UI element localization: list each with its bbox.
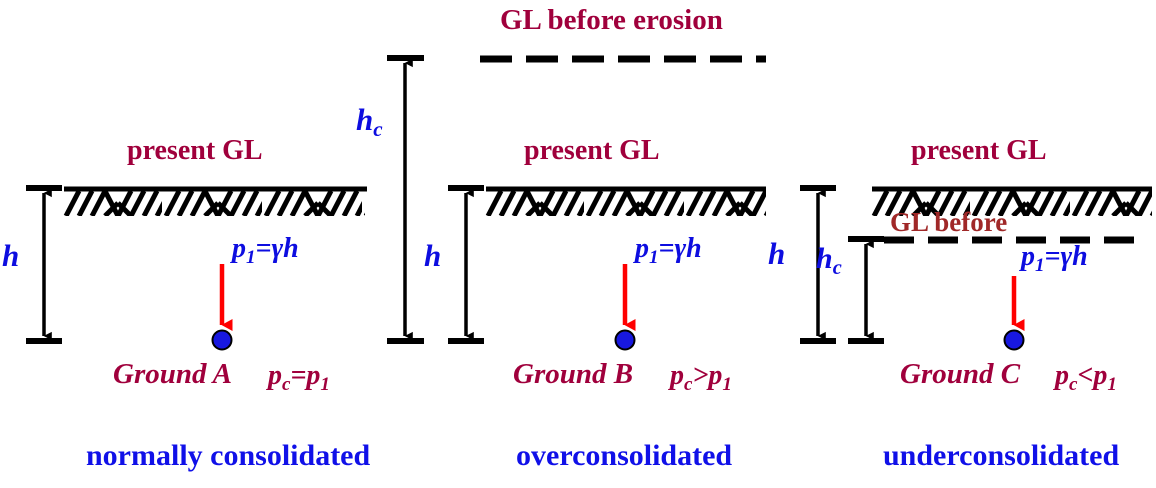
panel-c-stress-gamma-h: γh	[1060, 241, 1087, 272]
panel-c-relation: pc<p1	[1055, 362, 1117, 390]
panel-b-stress-p-sub: 1	[649, 247, 659, 268]
panel-a-h-dimension	[26, 188, 62, 341]
panel-c-hc-dimension	[848, 239, 884, 341]
panel-a-p1: p	[306, 360, 320, 391]
panel-b-h-label: h	[424, 240, 441, 271]
panel-c-point-marker	[1005, 331, 1024, 350]
panel-a-pc-sub: c	[282, 374, 290, 395]
panel-a-stress-gamma-h: γh	[271, 233, 298, 264]
panel-b-stress-eq: =	[659, 233, 675, 264]
panel-b-relation: pc>p1	[670, 362, 732, 390]
panel-a-ground-surface	[62, 189, 367, 216]
panel-b-pc: p	[670, 360, 684, 391]
panel-a-stress-p-sub: 1	[246, 247, 256, 268]
hc-dimension-center	[387, 58, 424, 341]
panel-a-h-label: h	[2, 240, 19, 271]
figure-canvas: GL before erosion hc present GL h p1=γh …	[0, 0, 1156, 488]
panel-b-stress-p: p	[635, 233, 649, 264]
panel-b-ground-name: Ground B	[513, 360, 633, 389]
panel-a-geometry	[26, 188, 367, 350]
panel-c-pc: p	[1055, 360, 1069, 391]
panel-c-gl-before-label: GL before	[890, 209, 1007, 236]
panel-c-stress-label: p1=γh	[1021, 243, 1088, 271]
panel-c-hc-label: hc	[816, 244, 842, 274]
panel-c-relation-op: <	[1077, 360, 1093, 391]
panel-a-stress-p: p	[232, 233, 246, 264]
hc-base: h	[356, 102, 373, 137]
panel-a-stress-eq: =	[256, 233, 272, 264]
panel-b-state-label: overconsolidated	[516, 441, 732, 471]
panel-b-present-gl-label: present GL	[524, 137, 660, 165]
panel-c-hc-base: h	[816, 242, 833, 275]
panel-c-p1-sub: 1	[1107, 374, 1117, 395]
panel-c-h-label: h	[768, 238, 785, 269]
panel-b-h-dimension	[448, 188, 484, 341]
panel-c-stress-eq: =	[1045, 241, 1061, 272]
panel-a-present-gl-label: present GL	[127, 137, 263, 165]
diagram-geometry	[0, 0, 1156, 488]
panel-a-relation-op: =	[290, 360, 306, 391]
panel-c-state-label: underconsolidated	[883, 441, 1119, 471]
panel-a-point-marker	[213, 331, 232, 350]
panel-b-geometry	[448, 188, 766, 350]
panel-b-ground-surface	[484, 189, 766, 216]
panel-c-present-gl-label: present GL	[911, 137, 1047, 165]
panel-c-pc-sub: c	[1069, 374, 1077, 395]
gl-before-erosion-label: GL before erosion	[500, 6, 723, 35]
panel-b-p1-sub: 1	[722, 374, 732, 395]
panel-b-pc-sub: c	[684, 374, 692, 395]
panel-c-stress-p-sub: 1	[1035, 255, 1045, 276]
panel-a-relation: pc=p1	[268, 362, 330, 390]
panel-a-p1-sub: 1	[320, 374, 330, 395]
panel-c-stress-p: p	[1021, 241, 1035, 272]
panel-c-hc-sub: c	[833, 257, 842, 279]
panel-a-state-label: normally consolidated	[86, 441, 370, 471]
panel-b-relation-op: >	[692, 360, 708, 391]
panel-a-ground-name: Ground A	[113, 360, 232, 389]
panel-b-p1: p	[708, 360, 722, 391]
panel-a-pc: p	[268, 360, 282, 391]
panel-c-p1: p	[1093, 360, 1107, 391]
hc-subscript: c	[373, 117, 382, 141]
panel-b-point-marker	[616, 331, 635, 350]
panel-c-ground-name: Ground C	[900, 360, 1020, 389]
panel-b-stress-label: p1=γh	[635, 235, 702, 263]
panel-b-stress-gamma-h: γh	[674, 233, 701, 264]
hc-dimension-label-center: hc	[356, 104, 383, 135]
panel-a-stress-label: p1=γh	[232, 235, 299, 263]
